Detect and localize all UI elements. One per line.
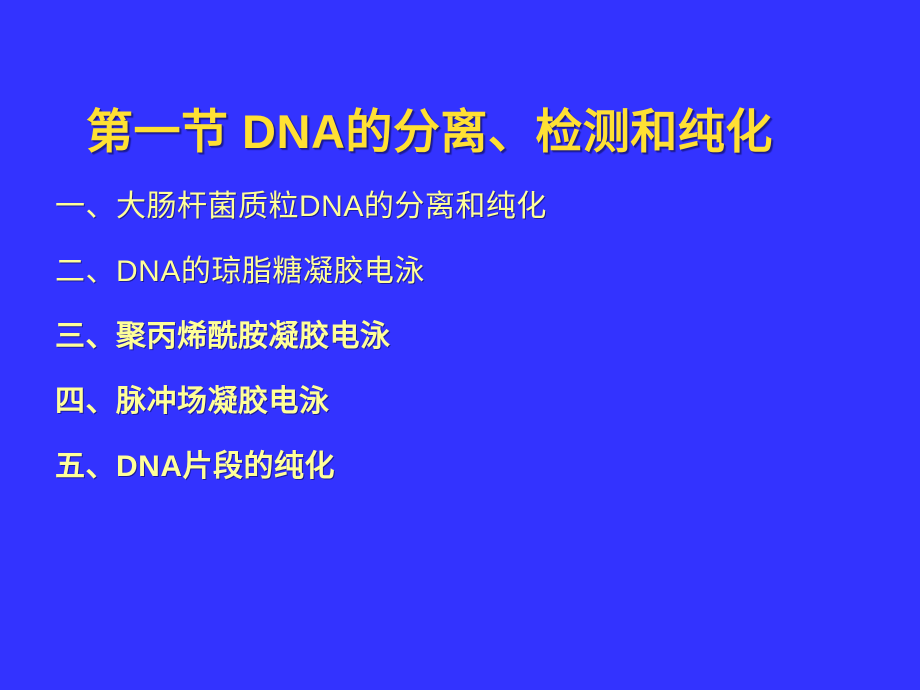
list-item: 五、DNA片段的纯化	[55, 448, 875, 513]
presentation-slide: 第一节 DNA的分离、检测和纯化 一、大肠杆菌质粒DNA的分离和纯化 二、DNA…	[0, 0, 920, 690]
list-item: 四、脉冲场凝胶电泳	[55, 383, 875, 448]
list-item: 三、聚丙烯酰胺凝胶电泳	[55, 318, 875, 383]
slide-bullet-list: 一、大肠杆菌质粒DNA的分离和纯化 二、DNA的琼脂糖凝胶电泳 三、聚丙烯酰胺凝…	[55, 188, 875, 513]
list-item: 一、大肠杆菌质粒DNA的分离和纯化	[55, 188, 875, 253]
list-item: 二、DNA的琼脂糖凝胶电泳	[55, 253, 875, 318]
slide-title: 第一节 DNA的分离、检测和纯化	[86, 105, 866, 159]
